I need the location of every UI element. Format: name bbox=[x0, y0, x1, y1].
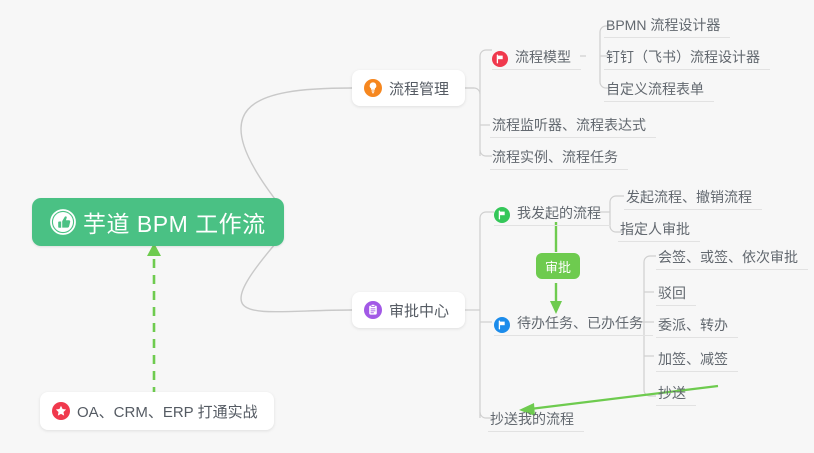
mindmap-canvas: 芋道 BPM 工作流 流程管理 流程模型 BPMN 流程设计器 钉钉（飞书）流程 bbox=[0, 0, 814, 453]
flag-icon bbox=[492, 51, 508, 67]
node-bpmn-designer[interactable]: BPMN 流程设计器 bbox=[604, 8, 730, 38]
approval-flow-badge-label: 审批 bbox=[545, 257, 571, 276]
thumbs-up-icon bbox=[50, 209, 76, 235]
node-delegate-transfer[interactable]: 委派、转办 bbox=[656, 308, 738, 338]
node-countersign[interactable]: 会签、或签、依次审批 bbox=[656, 240, 808, 270]
node-cc-to-me[interactable]: 抄送我的流程 bbox=[488, 402, 584, 432]
node-label: 流程模型 bbox=[515, 47, 571, 67]
clipboard-icon bbox=[364, 301, 382, 319]
star-icon bbox=[52, 402, 70, 420]
node-assignee-approval[interactable]: 指定人审批 bbox=[618, 212, 700, 242]
node-integration-practice[interactable]: OA、CRM、ERP 打通实战 bbox=[40, 392, 274, 430]
node-label: OA、CRM、ERP 打通实战 bbox=[77, 401, 258, 422]
node-label: 钉钉（飞书）流程设计器 bbox=[606, 47, 760, 67]
link-root-to-process-management bbox=[241, 88, 352, 208]
node-label: BPMN 流程设计器 bbox=[606, 15, 720, 35]
flag-icon bbox=[494, 207, 510, 223]
node-todo-done-tasks[interactable]: 待办任务、已办任务 bbox=[494, 306, 653, 336]
node-start-cancel[interactable]: 发起流程、撤销流程 bbox=[624, 180, 762, 210]
root-node[interactable]: 芋道 BPM 工作流 bbox=[32, 198, 284, 246]
node-label: 驳回 bbox=[658, 283, 686, 303]
node-cc[interactable]: 抄送 bbox=[656, 376, 696, 406]
node-add-remove-sign[interactable]: 加签、减签 bbox=[656, 342, 738, 372]
node-label: 委派、转办 bbox=[658, 315, 728, 335]
node-reject[interactable]: 驳回 bbox=[656, 276, 696, 306]
link-ac-to-myflow bbox=[480, 212, 494, 218]
node-label: 待办任务、已办任务 bbox=[517, 313, 643, 333]
link-todo-to-cc bbox=[644, 390, 656, 396]
node-label: 指定人审批 bbox=[620, 219, 690, 239]
node-process-model[interactable]: 流程模型 bbox=[492, 40, 581, 70]
flag-icon bbox=[494, 317, 510, 333]
branch-label: 审批中心 bbox=[389, 300, 449, 321]
link-pm-to-model bbox=[480, 50, 492, 56]
branch-label: 流程管理 bbox=[389, 78, 449, 99]
node-label: 自定义流程表单 bbox=[606, 79, 704, 99]
node-custom-process-form[interactable]: 自定义流程表单 bbox=[604, 72, 714, 102]
link-todo-to-countersign bbox=[644, 256, 656, 262]
node-dingtalk-feishu-designer[interactable]: 钉钉（飞书）流程设计器 bbox=[604, 40, 770, 70]
link-root-to-approval-center bbox=[241, 236, 352, 312]
node-instance-task[interactable]: 流程实例、流程任务 bbox=[490, 140, 628, 170]
node-label: 我发起的流程 bbox=[517, 203, 601, 223]
root-label: 芋道 BPM 工作流 bbox=[83, 205, 266, 239]
lightbulb-icon bbox=[364, 79, 382, 97]
node-label: 抄送我的流程 bbox=[490, 409, 574, 429]
node-my-initiated[interactable]: 我发起的流程 bbox=[494, 196, 611, 226]
node-label: 流程监听器、流程表达式 bbox=[492, 115, 646, 135]
node-label: 会签、或签、依次审批 bbox=[658, 247, 798, 267]
node-label: 发起流程、撤销流程 bbox=[626, 187, 752, 207]
approval-flow-badge[interactable]: 审批 bbox=[536, 253, 580, 279]
link-myflow-to-start bbox=[610, 196, 624, 212]
node-label: 抄送 bbox=[658, 383, 686, 403]
branch-approval-center[interactable]: 审批中心 bbox=[352, 292, 465, 328]
node-label: 流程实例、流程任务 bbox=[492, 147, 618, 167]
node-label: 加签、减签 bbox=[658, 349, 728, 369]
node-listener-expression[interactable]: 流程监听器、流程表达式 bbox=[490, 108, 656, 138]
branch-process-management[interactable]: 流程管理 bbox=[352, 70, 465, 106]
